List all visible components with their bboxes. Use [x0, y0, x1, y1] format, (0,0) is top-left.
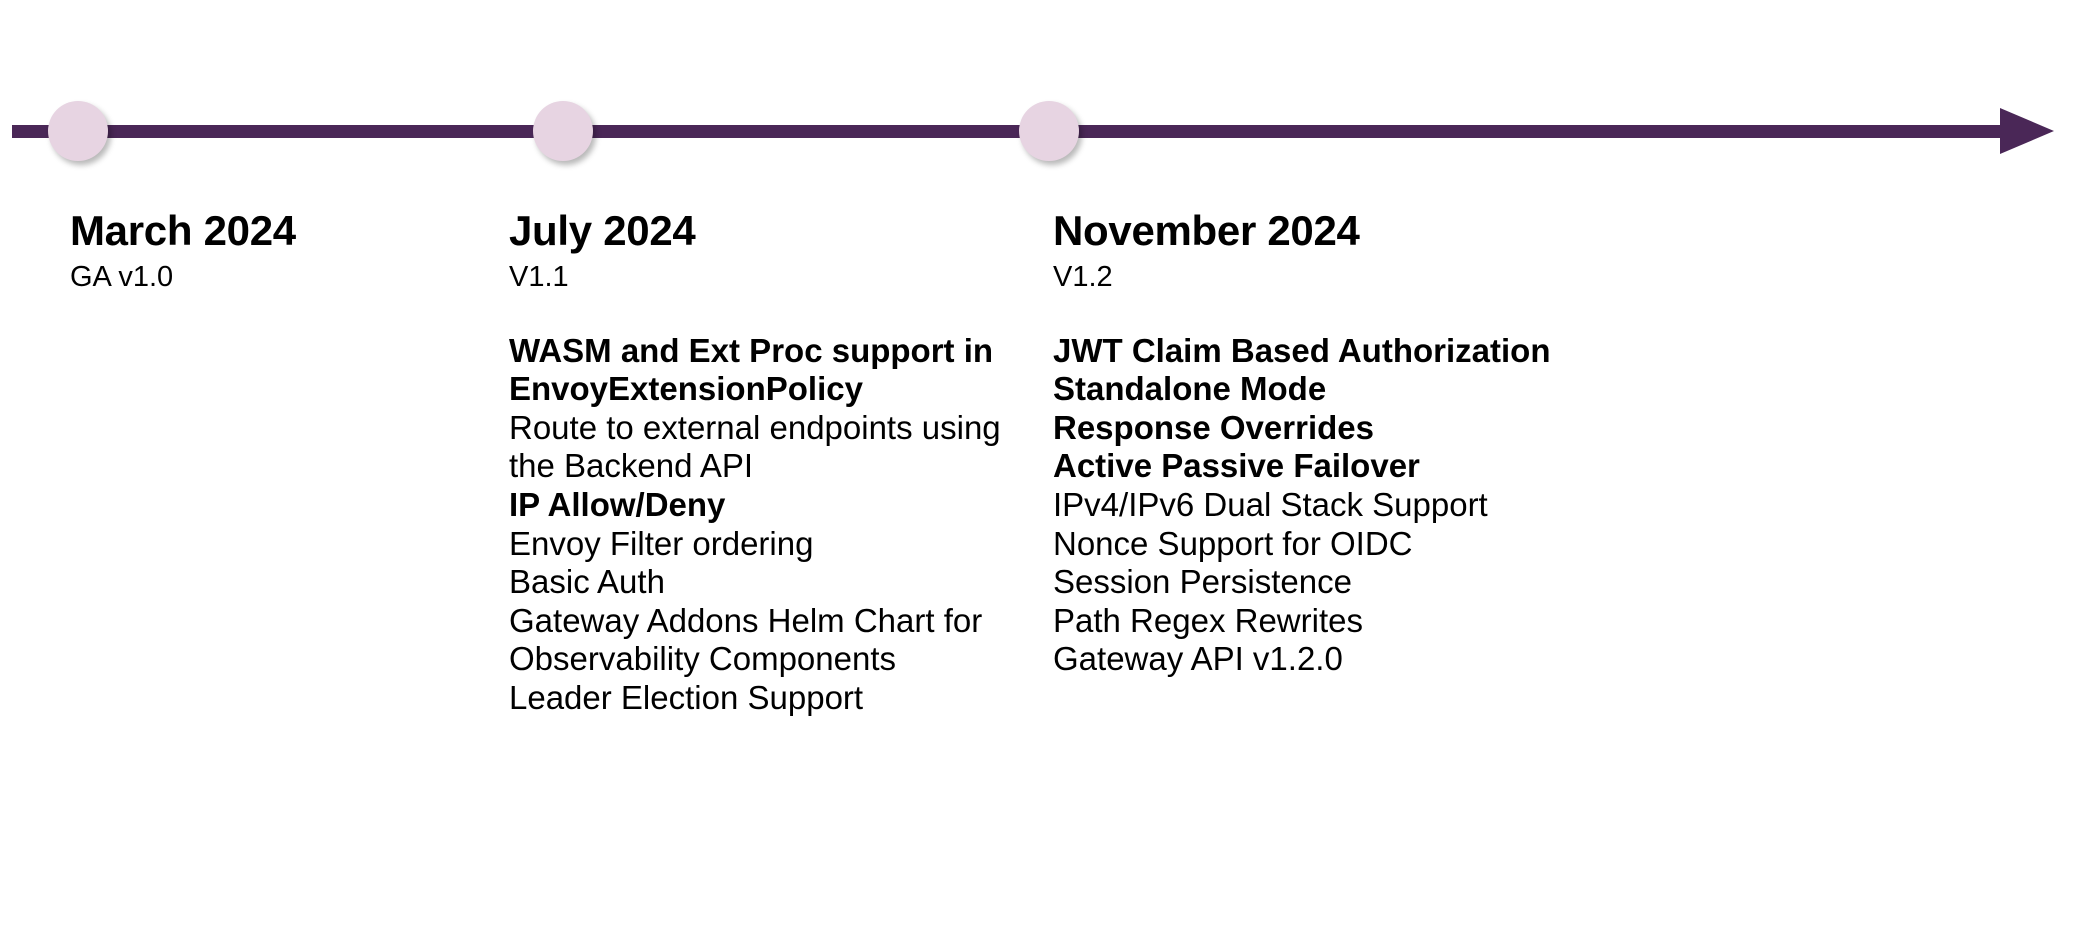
milestone-title: July 2024 — [509, 208, 1009, 253]
feature-item: Active Passive Failover — [1053, 447, 1573, 486]
timeline-diagram: March 2024GA v1.0July 2024V1.1WASM and E… — [0, 0, 2097, 932]
feature-item: Gateway Addons Helm Chart for Observabil… — [509, 602, 1009, 679]
feature-item: IP Allow/Deny — [509, 486, 1009, 525]
feature-item: Session Persistence — [1053, 563, 1573, 602]
milestone-version: V1.1 — [509, 259, 1009, 295]
feature-item: IPv4/IPv6 Dual Stack Support — [1053, 486, 1573, 525]
milestone-column-march-2024: March 2024GA v1.0 — [70, 208, 490, 296]
feature-item: Basic Auth — [509, 563, 1009, 602]
feature-item: Envoy Filter ordering — [509, 525, 1009, 564]
milestone-version: V1.2 — [1053, 259, 1573, 295]
milestone-title: November 2024 — [1053, 208, 1573, 253]
feature-item: JWT Claim Based Authorization — [1053, 332, 1573, 371]
milestone-version: GA v1.0 — [70, 259, 490, 295]
milestone-column-july-2024: July 2024V1.1WASM and Ext Proc support i… — [509, 208, 1009, 718]
milestone-title: March 2024 — [70, 208, 490, 253]
feature-item: WASM and Ext Proc support in EnvoyExtens… — [509, 332, 1009, 409]
feature-item: Nonce Support for OIDC — [1053, 525, 1573, 564]
feature-item: Path Regex Rewrites — [1053, 602, 1573, 641]
milestone-columns: March 2024GA v1.0July 2024V1.1WASM and E… — [0, 0, 2097, 932]
milestone-column-november-2024: November 2024V1.2JWT Claim Based Authori… — [1053, 208, 1573, 679]
feature-item: Gateway API v1.2.0 — [1053, 640, 1573, 679]
feature-item: Response Overrides — [1053, 409, 1573, 448]
feature-list: WASM and Ext Proc support in EnvoyExtens… — [509, 332, 1009, 718]
feature-list: JWT Claim Based AuthorizationStandalone … — [1053, 332, 1573, 679]
feature-item: Leader Election Support — [509, 679, 1009, 718]
feature-item: Standalone Mode — [1053, 370, 1573, 409]
feature-item: Route to external endpoints using the Ba… — [509, 409, 1009, 486]
